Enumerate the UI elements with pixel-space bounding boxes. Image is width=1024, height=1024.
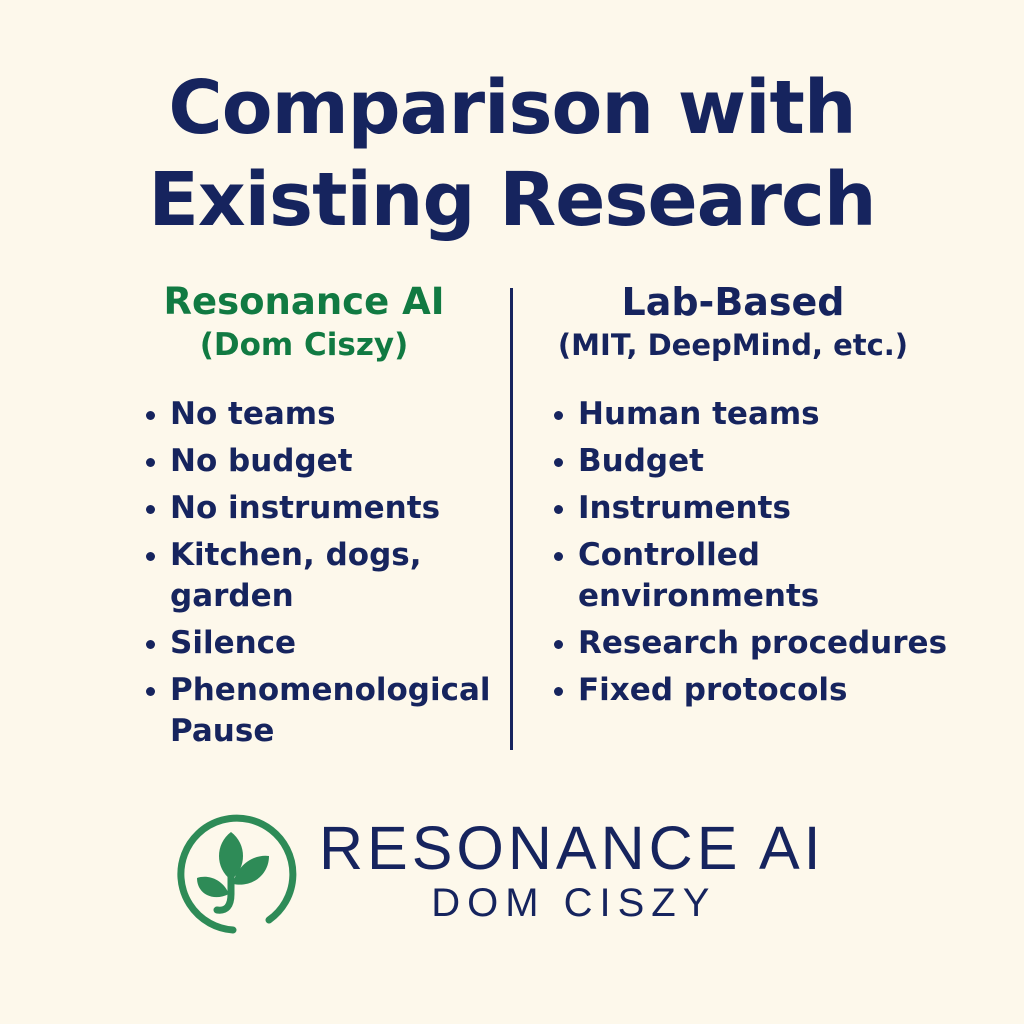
list-item: Phenomenological Pause [142, 670, 500, 752]
column-right-title: Lab-Based [528, 280, 938, 324]
logo-inner: RESONANCE AI DOM CISZY [165, 806, 825, 942]
column-left-subtitle: (Dom Ciszy) [120, 324, 488, 366]
list-item: Human teams [550, 394, 948, 435]
column-divider [510, 288, 513, 750]
column-resonance-ai: Resonance AI (Dom Ciszy) No teams No bud… [120, 280, 500, 758]
list-item: Budget [550, 441, 948, 482]
comparison-columns: Resonance AI (Dom Ciszy) No teams No bud… [0, 280, 1024, 760]
brand-logo-lockup: RESONANCE AI DOM CISZY [0, 806, 1024, 956]
column-left-list: No teams No budget No instruments Kitche… [142, 394, 500, 752]
list-item: Fixed protocols [550, 670, 948, 711]
column-right-subtitle: (MIT, DeepMind, etc.) [528, 324, 938, 366]
title-line-1: Comparison with [0, 62, 1024, 154]
list-item: No instruments [142, 488, 500, 529]
list-item: No teams [142, 394, 500, 435]
list-item: Kitchen, dogs, garden [142, 535, 500, 617]
column-right-list: Human teams Budget Instruments Controlle… [550, 394, 948, 711]
list-item: Controlled environments [550, 535, 948, 617]
logo-wordmark: RESONANCE AI DOM CISZY [319, 816, 825, 932]
brand-name: RESONANCE AI [319, 816, 825, 880]
column-left-title: Resonance AI [120, 280, 488, 324]
column-right-header: Lab-Based (MIT, DeepMind, etc.) [528, 280, 948, 366]
list-item: Instruments [550, 488, 948, 529]
title-line-2: Existing Research [0, 154, 1024, 246]
plant-sprout-in-circle-icon [165, 806, 301, 942]
list-item: No budget [142, 441, 500, 482]
page-title: Comparison with Existing Research [0, 62, 1024, 246]
list-item: Silence [142, 623, 500, 664]
column-lab-based: Lab-Based (MIT, DeepMind, etc.) Human te… [528, 280, 948, 717]
slide-canvas: Comparison with Existing Research Resona… [0, 0, 1024, 1024]
column-left-header: Resonance AI (Dom Ciszy) [120, 280, 500, 366]
brand-subtitle: DOM CISZY [319, 880, 825, 926]
list-item: Research procedures [550, 623, 948, 664]
